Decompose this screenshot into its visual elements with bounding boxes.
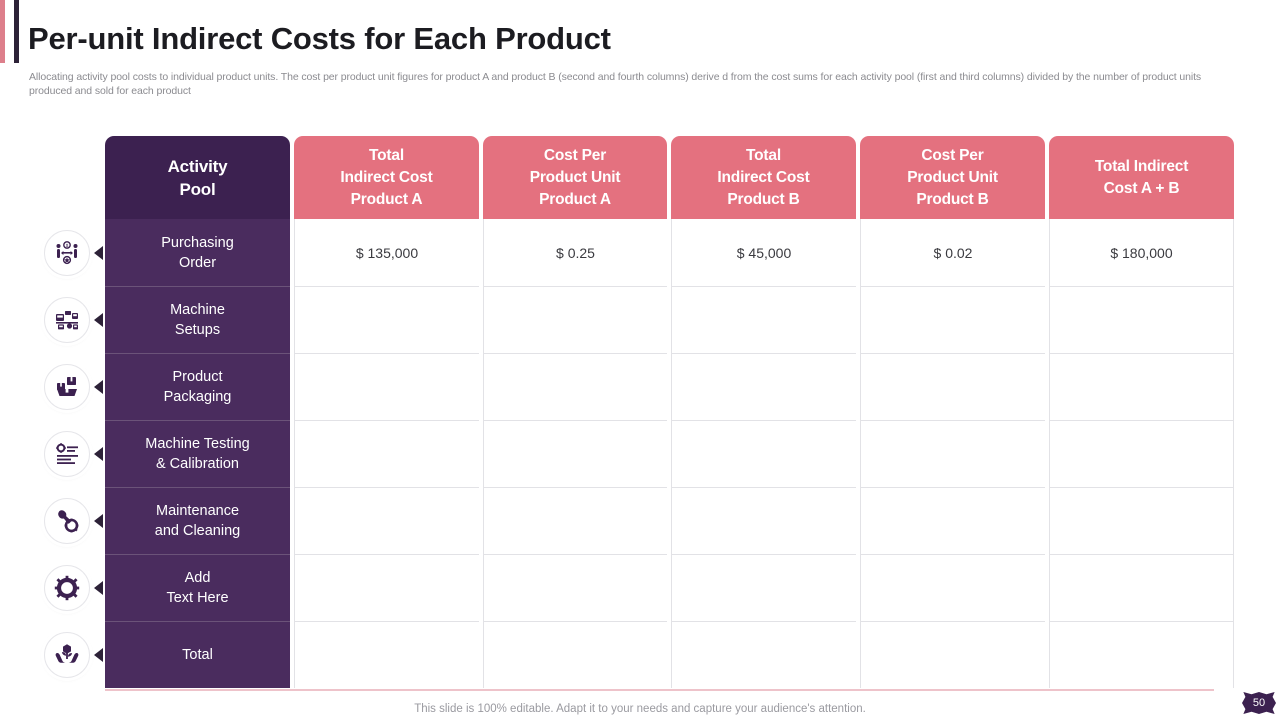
column-header-total-indirect-cost-product-a: TotalIndirect CostProduct A bbox=[294, 136, 479, 219]
row-pointer-arrow bbox=[94, 246, 103, 260]
page-number-label: 50 bbox=[1253, 698, 1265, 709]
table-cell[interactable] bbox=[1049, 353, 1234, 420]
table-row: PurchasingOrder$ 135,000$ 0.25$ 45,000$ … bbox=[105, 219, 1214, 286]
table-bottom-divider bbox=[105, 689, 1214, 691]
table-row: Maintenanceand Cleaning bbox=[105, 487, 1214, 554]
table-header-row: ActivityPool TotalIndirect CostProduct A… bbox=[105, 136, 1214, 219]
page-subtitle: Allocating activity pool costs to indivi… bbox=[29, 71, 1244, 98]
machine-setup-icon bbox=[44, 297, 90, 343]
table-cell[interactable] bbox=[860, 420, 1045, 487]
table-cell[interactable] bbox=[860, 353, 1045, 420]
purchasing-order-icon: $ bbox=[44, 230, 90, 276]
table-row: AddText Here bbox=[105, 554, 1214, 621]
table-cell[interactable] bbox=[671, 554, 856, 621]
column-header-total-indirect-cost-a-plus-b: Total IndirectCost A + B bbox=[1049, 136, 1234, 219]
table-cell[interactable] bbox=[294, 420, 479, 487]
table-cell[interactable]: $ 135,000 bbox=[294, 219, 479, 286]
table-cell[interactable] bbox=[294, 353, 479, 420]
table-cell[interactable] bbox=[483, 286, 667, 353]
table-cell[interactable] bbox=[860, 487, 1045, 554]
title-accent-bar-pink bbox=[0, 0, 5, 63]
table-cell[interactable] bbox=[671, 621, 856, 688]
product-packaging-icon bbox=[44, 364, 90, 410]
activity-pool-label[interactable]: ProductPackaging bbox=[105, 353, 290, 420]
footer-note: This slide is 100% editable. Adapt it to… bbox=[0, 703, 1280, 715]
activity-pool-label[interactable]: AddText Here bbox=[105, 554, 290, 621]
table-cell[interactable] bbox=[483, 621, 667, 688]
table-body: PurchasingOrder$ 135,000$ 0.25$ 45,000$ … bbox=[105, 219, 1214, 688]
activity-pool-label[interactable]: MachineSetups bbox=[105, 286, 290, 353]
table-row: MachineSetups bbox=[105, 286, 1214, 353]
table-cell[interactable] bbox=[483, 487, 667, 554]
row-pointer-arrow bbox=[94, 447, 103, 461]
table-cell[interactable] bbox=[1049, 286, 1234, 353]
table-cell[interactable] bbox=[1049, 487, 1234, 554]
table-cell[interactable] bbox=[860, 286, 1045, 353]
activity-pool-label[interactable]: Total bbox=[105, 621, 290, 688]
table-cell[interactable]: $ 45,000 bbox=[671, 219, 856, 286]
column-header-total-indirect-cost-product-b: TotalIndirect CostProduct B bbox=[671, 136, 856, 219]
machine-testing-icon bbox=[44, 431, 90, 477]
table-cell[interactable] bbox=[1049, 554, 1234, 621]
row-pointer-arrow bbox=[94, 648, 103, 662]
column-header-cost-per-product-unit-product-a: Cost PerProduct UnitProduct A bbox=[483, 136, 667, 219]
table-cell[interactable] bbox=[483, 353, 667, 420]
activity-pool-label[interactable]: Maintenanceand Cleaning bbox=[105, 487, 290, 554]
table-row: Total bbox=[105, 621, 1214, 688]
column-header-activity-pool: ActivityPool bbox=[105, 136, 290, 219]
table-cell[interactable] bbox=[483, 420, 667, 487]
table-cell[interactable] bbox=[294, 487, 479, 554]
slide-canvas: Per-unit Indirect Costs for Each Product… bbox=[0, 0, 1280, 720]
table-cell[interactable]: $ 0.25 bbox=[483, 219, 667, 286]
table-cell[interactable] bbox=[860, 554, 1045, 621]
table-cell[interactable] bbox=[671, 353, 856, 420]
activity-pool-label[interactable]: PurchasingOrder bbox=[105, 219, 290, 286]
activity-pool-label[interactable]: Machine Testing& Calibration bbox=[105, 420, 290, 487]
table-cell[interactable] bbox=[860, 621, 1045, 688]
table-cell[interactable] bbox=[671, 420, 856, 487]
gear-icon bbox=[44, 565, 90, 611]
page-title: Per-unit Indirect Costs for Each Product bbox=[28, 21, 611, 57]
table-cell[interactable] bbox=[294, 621, 479, 688]
column-header-cost-per-product-unit-product-b: Cost PerProduct UnitProduct B bbox=[860, 136, 1045, 219]
row-pointer-arrow bbox=[94, 380, 103, 394]
row-pointer-arrow bbox=[94, 581, 103, 595]
row-pointer-arrow bbox=[94, 514, 103, 528]
table-cell[interactable] bbox=[483, 554, 667, 621]
table-row: ProductPackaging bbox=[105, 353, 1214, 420]
page-number-badge: 50 bbox=[1242, 692, 1276, 714]
table-cell[interactable] bbox=[1049, 621, 1234, 688]
table-cell[interactable] bbox=[294, 286, 479, 353]
row-pointer-arrow bbox=[94, 313, 103, 327]
title-accent-bar-dark bbox=[14, 0, 19, 63]
cost-allocation-table: ActivityPool TotalIndirect CostProduct A… bbox=[105, 136, 1214, 689]
maintenance-cleaning-icon bbox=[44, 498, 90, 544]
table-cell[interactable] bbox=[671, 286, 856, 353]
table-cell[interactable] bbox=[294, 554, 479, 621]
table-cell[interactable]: $ 0.02 bbox=[860, 219, 1045, 286]
table-cell[interactable] bbox=[671, 487, 856, 554]
hands-plant-icon bbox=[44, 632, 90, 678]
table-cell[interactable] bbox=[1049, 420, 1234, 487]
table-row: Machine Testing& Calibration bbox=[105, 420, 1214, 487]
table-cell[interactable]: $ 180,000 bbox=[1049, 219, 1234, 286]
